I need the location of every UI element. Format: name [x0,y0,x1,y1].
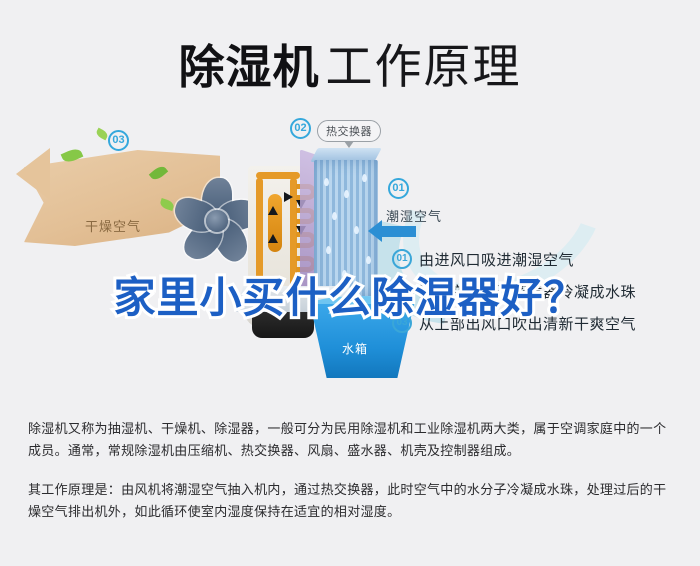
page-title-light: 工作原理 [326,40,522,93]
flow-arrow-icon [284,192,293,202]
infographic-page: 除湿机工作原理 干燥空气 [0,0,700,566]
flow-arrow-icon [268,234,278,243]
dry-airflow-arrowhead-icon [16,148,50,200]
body-copy: 除湿机又称为抽湿机、干燥机、除湿器，一般可分为民用除湿机和工业除湿机两大类，属于… [28,418,676,523]
humid-air-label: 潮湿空气 [386,206,442,225]
diagram-badge-03: 03 [108,130,129,151]
diagram-badge-01: 01 [388,178,409,199]
page-title: 除湿机工作原理 [0,28,700,97]
water-tank-label: 水箱 [342,340,368,357]
dry-air-label: 干燥空气 [85,216,141,235]
overlay-headline: 家里小买什么除湿器好？ [0,264,700,325]
intake-arrow-icon [382,226,416,237]
flow-arrow-icon [268,206,278,215]
leaf-icon [95,128,109,141]
diagram-badge-02: 02 [290,118,311,139]
paragraph-2: 其工作原理是：由风机将潮湿空气抽入机内，通过热交换器，此时空气中的水分子冷凝成水… [28,479,676,523]
receiver-tank-icon [268,194,282,252]
page-title-bold: 除湿机 [179,41,320,93]
heat-exchanger-callout: 热交换器 [317,120,381,142]
paragraph-1: 除湿机又称为抽湿机、干燥机、除湿器，一般可分为民用除湿机和工业除湿机两大类，属于… [28,418,676,462]
